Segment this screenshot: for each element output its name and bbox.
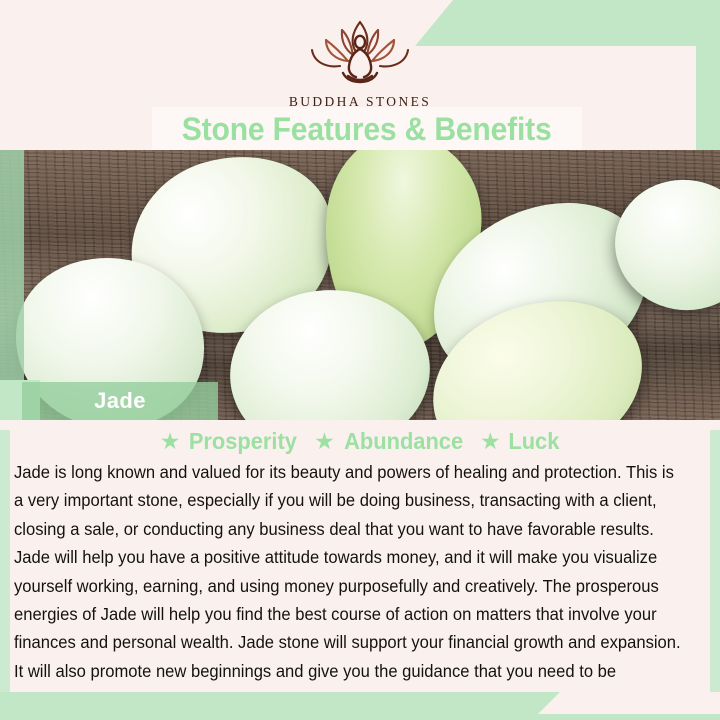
brand-logo: BUDDHA STONES (260, 16, 460, 110)
page-header: BUDDHA STONES Stone Features & Benefits (0, 0, 720, 150)
benefit-item: ★ Prosperity (160, 428, 300, 455)
stone-name-label: Jade (94, 388, 146, 414)
benefit-label: Prosperity (189, 428, 297, 455)
title-banner: Stone Features & Benefits (152, 107, 582, 152)
benefits-row: ★ Prosperity ★ Abundance ★ Luck (0, 428, 720, 455)
benefit-label: Abundance (344, 428, 463, 455)
stone-photo (0, 150, 720, 420)
benefit-item: ★ Luck (480, 428, 560, 455)
decor-text-right-edge (710, 430, 720, 692)
decor-text-left-edge (0, 430, 10, 692)
page-title: Stone Features & Benefits (182, 111, 552, 148)
infographic-page: BUDDHA STONES Stone Features & Benefits … (0, 0, 720, 720)
star-icon: ★ (160, 430, 181, 453)
stone-name-badge: Jade (22, 382, 218, 420)
star-icon: ★ (480, 430, 501, 453)
decor-bottom-left-band (0, 692, 560, 720)
benefit-label: Luck (508, 428, 559, 455)
star-icon: ★ (314, 430, 335, 453)
lotus-meditation-icon (296, 16, 424, 92)
benefit-item: ★ Abundance (314, 428, 466, 455)
description-text: Jade is long known and valued for its be… (14, 458, 684, 714)
